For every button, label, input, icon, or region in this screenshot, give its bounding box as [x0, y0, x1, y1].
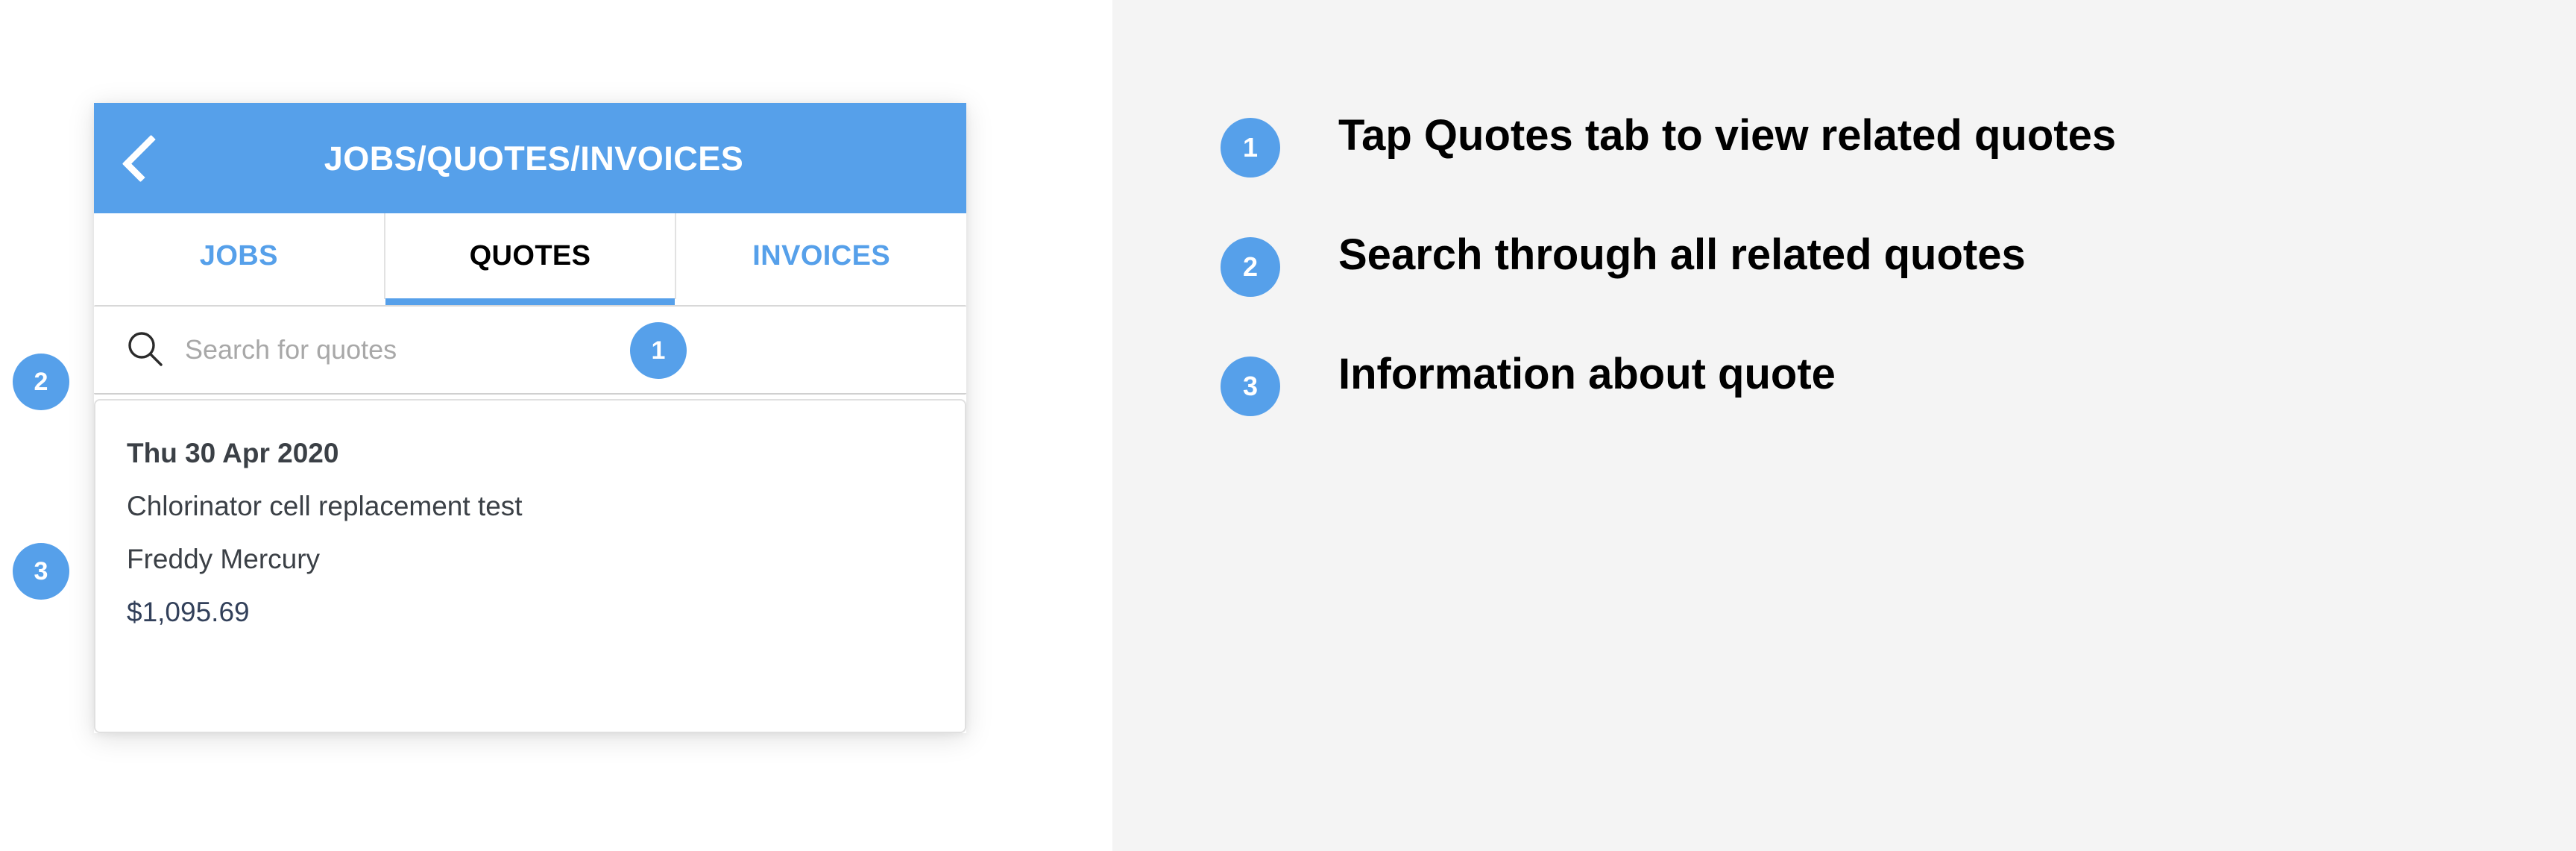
step-badge-3-label: 3	[1243, 371, 1258, 402]
callout-badge-1-label: 1	[652, 336, 666, 365]
quote-list: Thu 30 Apr 2020 Chlorinator cell replace…	[94, 399, 966, 733]
quote-amount: $1,095.69	[127, 598, 965, 626]
tab-bar: JOBS QUOTES INVOICES	[94, 213, 966, 299]
step-badge-2-label: 2	[1243, 251, 1258, 283]
callout-badge-3: 3	[13, 543, 69, 600]
list-item[interactable]: Thu 30 Apr 2020 Chlorinator cell replace…	[127, 439, 965, 626]
step-item-2: 2 Search through all related quotes	[1221, 230, 2488, 297]
callout-badge-3-label: 3	[34, 557, 48, 586]
step-item-3: 3 Information about quote	[1221, 349, 2488, 416]
back-button[interactable]	[119, 132, 171, 184]
page-title: JOBS/QUOTES/INVOICES	[94, 142, 966, 175]
step-text-3: Information about quote	[1338, 349, 1836, 400]
step-badge-1: 1	[1221, 118, 1280, 178]
instructions-pane: 1 Tap Quotes tab to view related quotes …	[1112, 0, 2576, 851]
callout-badge-2: 2	[13, 354, 69, 410]
search-bar[interactable]: Search for quotes	[94, 305, 966, 395]
quote-description: Chlorinator cell replacement test	[127, 492, 965, 520]
page-root: JOBS/QUOTES/INVOICES JOBS QUOTES INVOICE…	[0, 0, 2576, 851]
search-icon	[122, 327, 169, 373]
step-text-1: Tap Quotes tab to view related quotes	[1338, 110, 2116, 161]
step-badge-3: 3	[1221, 357, 1280, 416]
search-input[interactable]: Search for quotes	[185, 334, 397, 365]
quote-person: Freddy Mercury	[127, 545, 965, 573]
tab-quotes-label: QUOTES	[470, 240, 591, 272]
chevron-left-icon	[122, 134, 169, 182]
step-item-1: 1 Tap Quotes tab to view related quotes	[1221, 110, 2488, 178]
tab-invoices-label: INVOICES	[752, 240, 890, 272]
step-badge-2: 2	[1221, 237, 1280, 297]
tab-quotes[interactable]: QUOTES	[384, 213, 676, 299]
callout-badge-2-label: 2	[34, 368, 48, 397]
tab-jobs-label: JOBS	[200, 240, 278, 272]
app-bar: JOBS/QUOTES/INVOICES	[94, 103, 966, 213]
tab-jobs[interactable]: JOBS	[94, 213, 384, 299]
phone-mockup-card: JOBS/QUOTES/INVOICES JOBS QUOTES INVOICE…	[94, 103, 966, 733]
step-text-2: Search through all related quotes	[1338, 230, 2026, 280]
steps-list: 1 Tap Quotes tab to view related quotes …	[1221, 110, 2488, 468]
step-badge-1-label: 1	[1243, 132, 1258, 163]
quote-date: Thu 30 Apr 2020	[127, 439, 965, 467]
callout-badge-1: 1	[630, 322, 687, 379]
screenshot-pane: JOBS/QUOTES/INVOICES JOBS QUOTES INVOICE…	[0, 0, 1112, 851]
tab-invoices[interactable]: INVOICES	[675, 213, 966, 299]
